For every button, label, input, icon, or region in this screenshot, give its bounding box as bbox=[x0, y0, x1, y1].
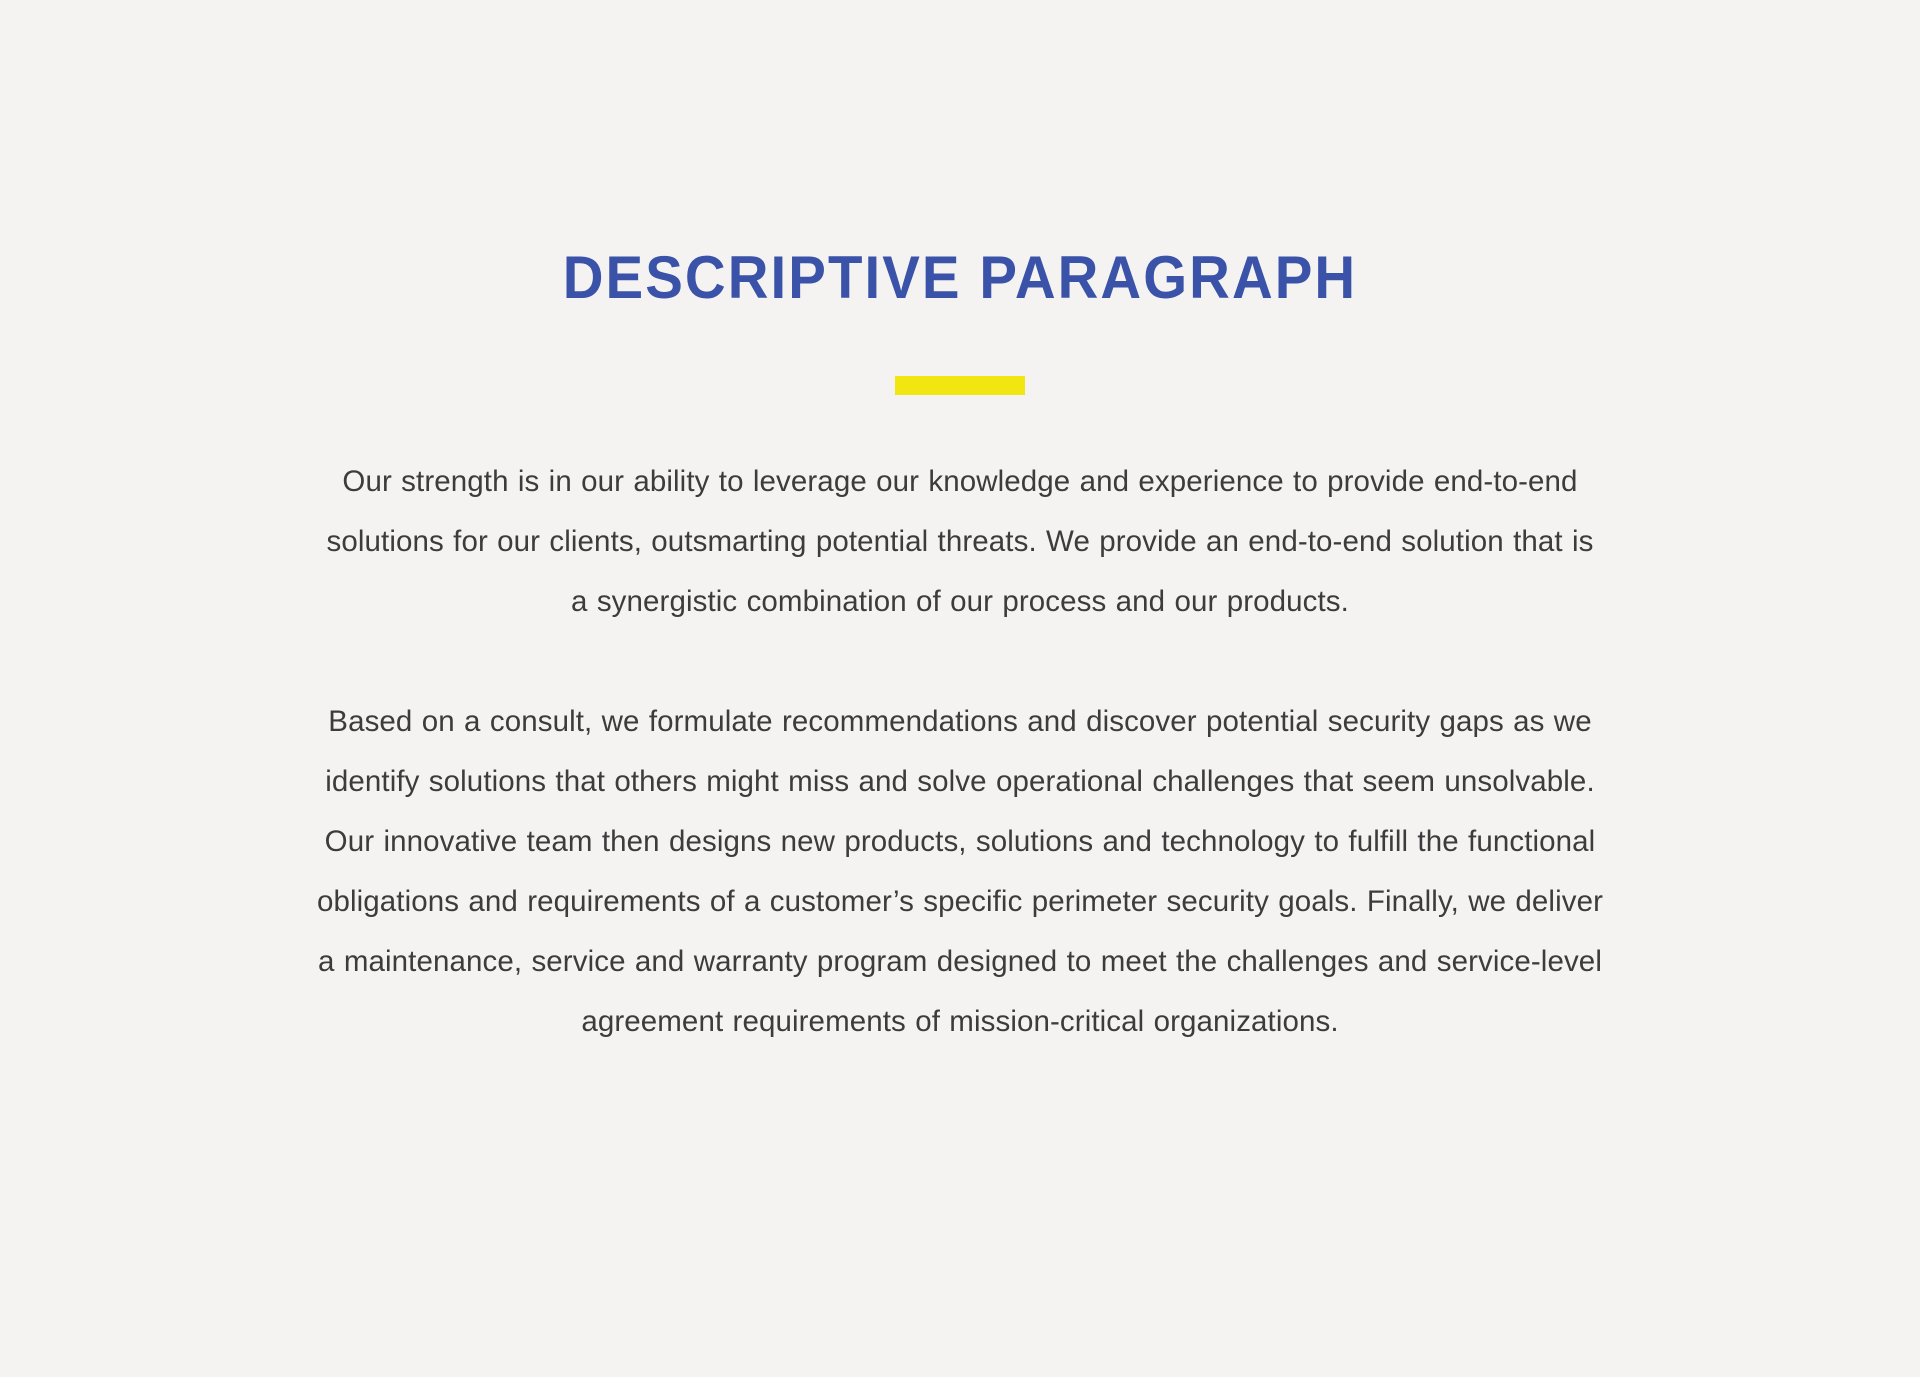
paragraph-1: Our strength is in our ability to levera… bbox=[325, 452, 1595, 632]
page-title: Descriptive Paragraph bbox=[58, 246, 1863, 309]
slide-canvas: Descriptive Paragraph Our strength is in… bbox=[0, 0, 1920, 1377]
paragraph-2: Based on a consult, we formulate recomme… bbox=[315, 692, 1605, 1052]
yellow-accent-bar bbox=[895, 376, 1025, 395]
body-copy: Our strength is in our ability to levera… bbox=[315, 452, 1605, 1052]
divider-container bbox=[0, 376, 1920, 395]
